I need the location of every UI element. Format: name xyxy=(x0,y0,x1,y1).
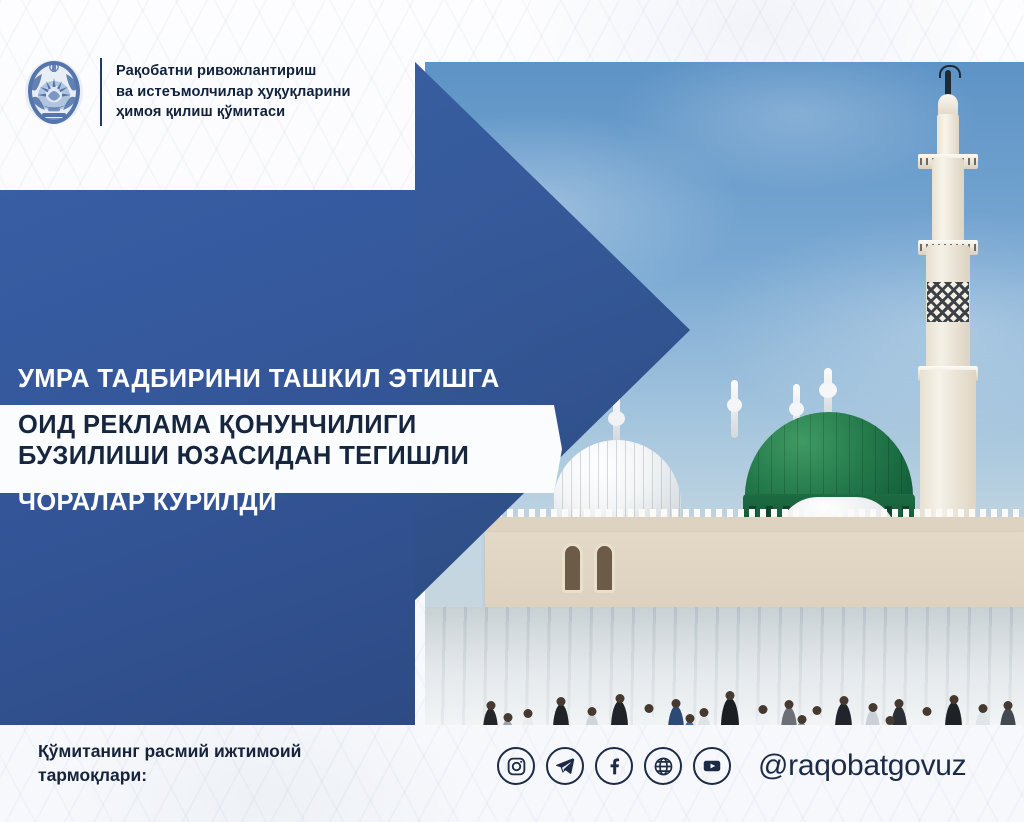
person xyxy=(809,713,824,725)
brand-divider xyxy=(100,58,102,126)
person xyxy=(945,702,962,725)
social-networks-label: Қўмитанинг расмий ижтимоий тармоқлари: xyxy=(38,739,301,787)
person xyxy=(521,716,535,725)
person xyxy=(721,698,739,725)
headline-line-4: ЧОРАЛАР КЎРИЛДИ xyxy=(0,481,700,526)
person xyxy=(553,704,569,725)
person xyxy=(483,708,498,725)
uzbekistan-state-emblem-icon xyxy=(22,56,86,128)
minaret-zigzag-ornament xyxy=(927,282,969,322)
person xyxy=(975,711,990,725)
person xyxy=(865,710,880,725)
headline-block: УМРА ТАДБИРИНИ ТАШКИЛ ЭТИШГА ОИД РЕКЛАМА… xyxy=(0,358,700,525)
person xyxy=(919,714,934,725)
minaret-base-shaft xyxy=(920,370,976,532)
facade-window xyxy=(565,546,580,590)
headline-line-2: ОИД РЕКЛАМА ҚОНУНЧИЛИГИ xyxy=(0,402,700,445)
organization-name: Рақобатни ривожлантириш ва истеъмолчилар… xyxy=(116,61,351,123)
youtube-icon[interactable] xyxy=(693,747,731,785)
facebook-icon[interactable] xyxy=(595,747,633,785)
minaret xyxy=(912,70,984,532)
person xyxy=(835,703,852,725)
person xyxy=(697,715,711,725)
person xyxy=(1000,708,1016,725)
person xyxy=(641,711,656,725)
brand-header: Рақобатни ривожлантириш ва истеъмолчилар… xyxy=(22,56,351,128)
instagram-icon[interactable] xyxy=(497,747,535,785)
telegram-icon[interactable] xyxy=(546,747,584,785)
person xyxy=(585,714,599,725)
social-handle[interactable]: @raqobatgovuz xyxy=(758,749,966,783)
left-finial xyxy=(731,380,738,438)
facade-window xyxy=(597,546,612,590)
headline-line-3: БУЗИЛИШИ ЮЗАСИДАН ТЕГИШЛИ xyxy=(0,444,700,481)
footer-bar: Қўмитанинг расмий ижтимоий тармоқлари: xyxy=(0,725,1024,822)
person xyxy=(781,707,797,725)
poster-canvas: Рақобатни ривожлантириш ва истеъмолчилар… xyxy=(0,0,1024,822)
person xyxy=(611,701,628,725)
website-globe-icon[interactable] xyxy=(644,747,682,785)
social-icons-row: @raqobatgovuz xyxy=(497,747,966,785)
person xyxy=(755,712,770,725)
headline-line-1: УМРА ТАДБИРИНИ ТАШКИЛ ЭТИШГА xyxy=(0,358,700,402)
minaret-second-tier xyxy=(932,158,964,250)
pilgrim-crowd xyxy=(425,638,1024,725)
person xyxy=(668,706,684,725)
